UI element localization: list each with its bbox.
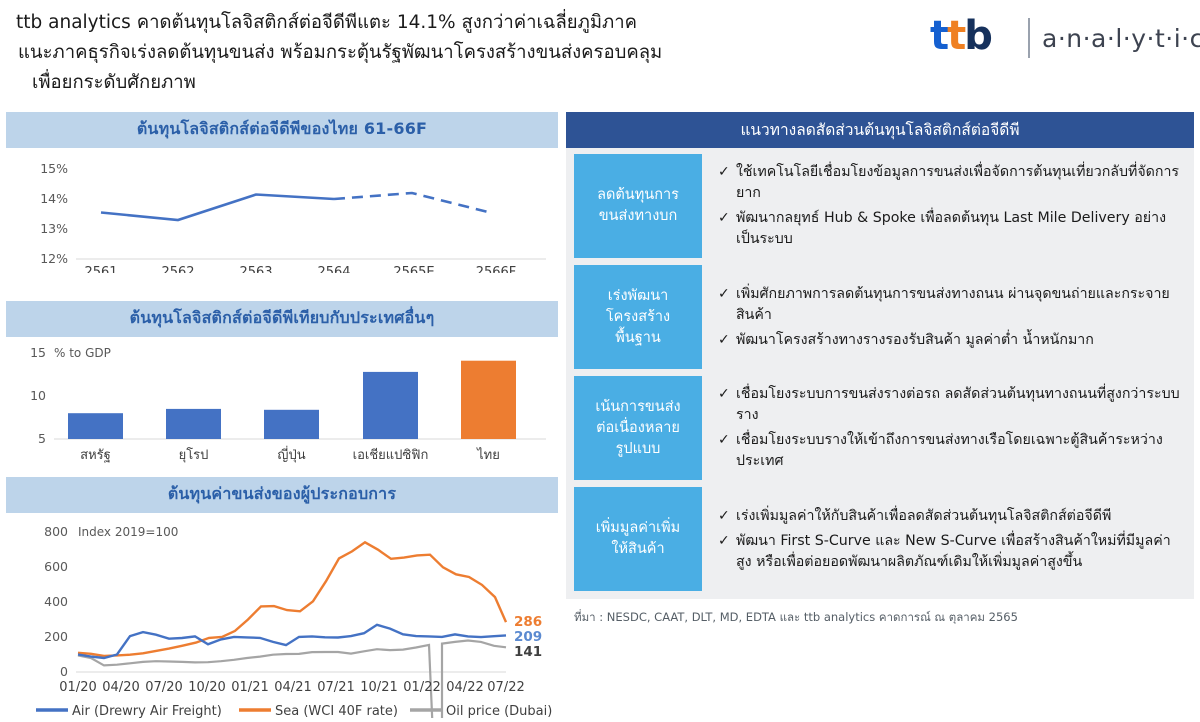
bullet-item: ✓ พัฒนากลยุทธ์ Hub & Spoke เพื่อลดต้นทุน… <box>718 208 1180 250</box>
card-label-line: โครงสร้าง <box>606 309 670 325</box>
bullet-item: ✓ ใช้เทคโนโลยีเชื่อมโยงข้อมูลการขนส่งเพื… <box>718 162 1180 204</box>
chart-2-ytick-10: 10 <box>30 388 46 403</box>
chart-2-ytick-5: 5 <box>38 431 46 446</box>
bullet-text: เชื่อมโยงระบบรางให้เข้าถึงการขนส่งทางเรื… <box>736 430 1180 472</box>
chart-3-xtick-10: 07/22 <box>487 680 524 695</box>
recommendation-card[interactable]: ลดต้นทุนการ ขนส่งทางบก ✓ ใช้เทคโนโลยีเชื… <box>566 154 1194 258</box>
chart-3-svg: Index 2019=100 800 600 400 200 0 286 209… <box>6 513 558 718</box>
chart-2-title: ต้นทุนโลจิสติกส์ต่อจีดีพีเทียบกับประเทศอ… <box>6 301 558 337</box>
chart-3-xtick-3: 10/20 <box>188 680 225 695</box>
chart-3-ylabel: Index 2019=100 <box>78 525 178 539</box>
headline-line-1: ttb analytics คาดต้นทุนโลจิสติกส์ต่อจีดี… <box>16 8 916 38</box>
check-icon: ✓ <box>718 506 736 527</box>
card-label-infrastructure: เร่งพัฒนา โครงสร้าง พื้นฐาน <box>574 265 702 369</box>
logo-letter-t2: t <box>947 13 964 59</box>
card-label-value-added: เพิ่มมูลค่าเพิ่ม ให้สินค้า <box>574 487 702 591</box>
card-label-line: รูปแบบ <box>616 441 661 457</box>
chart-1-ytick-15: 15% <box>40 161 68 176</box>
recommendation-card[interactable]: เพิ่มมูลค่าเพิ่ม ให้สินค้า ✓ เร่งเพิ่มมู… <box>566 487 1194 591</box>
chart-2-bar-3 <box>363 372 418 439</box>
bullet-item: ✓ พัฒนาโครงสร้างทางรางรองรับสินค้า มูลค่… <box>718 330 1180 351</box>
card-body: ✓ เพิ่มศักยภาพการลดต้นทุนการขนส่งทางถนน … <box>702 265 1194 369</box>
chart-3-plot: Index 2019=100 800 600 400 200 0 286 209… <box>6 513 558 722</box>
bullet-text: เร่งเพิ่มมูลค่าให้กับสินค้าเพื่อลดสัดส่ว… <box>736 506 1111 527</box>
chart-1-xtick-2: 2563 <box>239 265 272 273</box>
card-body: ✓ เร่งเพิ่มมูลค่าให้กับสินค้าเพื่อลดสัดส… <box>702 487 1194 591</box>
check-icon: ✓ <box>718 208 736 229</box>
bullet-item: ✓ เชื่อมโยงระบบรางให้เข้าถึงการขนส่งทางเ… <box>718 430 1180 472</box>
page-header: ttb analytics คาดต้นทุนโลจิสติกส์ต่อจีดี… <box>0 0 1200 110</box>
chart-3-legend: Air (Drewry Air Freight) Sea (WCI 40F ra… <box>36 704 552 718</box>
source-note: ที่มา : NESDC, CAAT, DLT, MD, EDTA และ t… <box>566 609 1194 627</box>
card-label-line: ขนส่งทางบก <box>599 208 678 224</box>
card-label-line: พื้นฐาน <box>615 330 661 346</box>
chart-3-xtick-7: 10/21 <box>360 680 397 695</box>
card-label-land-transport-cost: ลดต้นทุนการ ขนส่งทางบก <box>574 154 702 258</box>
bullet-item: ✓ เพิ่มศักยภาพการลดต้นทุนการขนส่งทางถนน … <box>718 284 1180 326</box>
bullet-text: พัฒนาโครงสร้างทางรางรองรับสินค้า มูลค่าต… <box>736 330 1094 351</box>
chart-3-ytick-600: 600 <box>44 559 68 574</box>
recommendation-card[interactable]: เร่งพัฒนา โครงสร้าง พื้นฐาน ✓ เพิ่มศักยภ… <box>566 265 1194 369</box>
chart-3-xtick-8: 01/22 <box>403 680 440 695</box>
chart-1-ytick-13: 13% <box>40 221 68 236</box>
chart-2-bar-0 <box>68 413 123 439</box>
card-label-line: เน้นการขนส่ง <box>595 399 680 415</box>
bullet-item: ✓ เร่งเพิ่มมูลค่าให้กับสินค้าเพื่อลดสัดส… <box>718 506 1180 527</box>
card-label-line: ต่อเนื่องหลาย <box>596 420 680 436</box>
bullet-text: ใช้เทคโนโลยีเชื่อมโยงข้อมูลการขนส่งเพื่อ… <box>736 162 1180 204</box>
check-icon: ✓ <box>718 284 736 305</box>
headline-line-3: เพื่อยกระดับศักยภาพ <box>16 68 916 98</box>
chart-3-ytick-800: 800 <box>44 524 68 539</box>
card-label-line: ให้สินค้า <box>611 541 664 557</box>
card-label-line: เร่งพัฒนา <box>608 288 669 304</box>
legend-label-sea: Sea (WCI 40F rate) <box>275 704 398 718</box>
card-body: ✓ เชื่อมโยงระบบการขนส่งรางต่อรถ ลดสัดส่ว… <box>702 376 1194 480</box>
check-icon: ✓ <box>718 162 736 183</box>
recommendation-card[interactable]: เน้นการขนส่ง ต่อเนื่องหลาย รูปแบบ ✓ เชื่… <box>566 376 1194 480</box>
chart-2-bar-1 <box>166 409 221 439</box>
card-label-line: เพิ่มมูลค่าเพิ่ม <box>596 520 680 536</box>
logo-wordmark: a·n·a·l·y·t·i·c·s <box>1042 24 1200 53</box>
legend-label-oil: Oil price (Dubai) <box>446 704 552 718</box>
chart-2-xtick-1: ยุโรป <box>179 447 209 463</box>
check-icon: ✓ <box>718 531 736 552</box>
bullet-text: พัฒนา First S-Curve และ New S-Curve เพื่… <box>736 531 1180 573</box>
chart-2-ytick-15: 15 <box>30 345 46 360</box>
chart-3-xtick-9: 04/22 <box>446 680 483 695</box>
bullet-item: ✓ พัฒนา First S-Curve และ New S-Curve เพ… <box>718 531 1180 573</box>
page-title: ttb analytics คาดต้นทุนโลจิสติกส์ต่อจีดี… <box>16 8 916 98</box>
card-label-multimodal-transport: เน้นการขนส่ง ต่อเนื่องหลาย รูปแบบ <box>574 376 702 480</box>
chart-1-xtick-5: 2566F <box>476 265 517 273</box>
chart-3-xtick-6: 07/21 <box>317 680 354 695</box>
card-label-line: ลดต้นทุนการ <box>597 187 679 203</box>
chart-3-xtick-1: 04/20 <box>102 680 139 695</box>
legend-label-air: Air (Drewry Air Freight) <box>72 704 222 718</box>
chart-1-ytick-14: 14% <box>40 191 68 206</box>
chart-1-xtick-0: 2561 <box>84 265 117 273</box>
bullet-text: เชื่อมโยงระบบการขนส่งรางต่อรถ ลดสัดส่วนต… <box>736 384 1180 426</box>
chart-3-ytick-200: 200 <box>44 629 68 644</box>
headline-line-2: แนะภาคธุรกิจเร่งลดต้นทุนขนส่ง พร้อมกระตุ… <box>16 38 916 68</box>
chart-2-ylabel: % to GDP <box>54 346 111 360</box>
chart-3-xtick-4: 01/21 <box>231 680 268 695</box>
chart-2-svg: % to GDP 15 10 5 สหรัฐ ยุโรป ญี่ปุ่น เอเ… <box>6 337 558 467</box>
chart-2-xtick-0: สหรัฐ <box>80 448 111 463</box>
chart-1-series-dashed <box>334 193 490 213</box>
logo-divider <box>1028 18 1030 58</box>
check-icon: ✓ <box>718 384 736 405</box>
chart-1-xtick-3: 2564 <box>317 265 350 273</box>
chart-3-endlabel-oil: 141 <box>514 644 542 660</box>
charts-column: ต้นทุนโลจิสติกส์ต่อจีดีพีของไทย 61-66F 1… <box>6 112 558 682</box>
chart-1-ytick-12: 12% <box>40 251 68 266</box>
chart-1-xtick-4: 2565E <box>393 265 434 273</box>
ttb-analytics-logo: ttb a·n·a·l·y·t·i·c·s <box>930 14 1180 66</box>
chart-2-bar-4 <box>461 361 516 439</box>
chart-card-country-comparison: ต้นทุนโลจิสติกส์ต่อจีดีพีเทียบกับประเทศอ… <box>6 301 558 471</box>
chart-1-title: ต้นทุนโลจิสติกส์ต่อจีดีพีของไทย 61-66F <box>6 112 558 148</box>
recommendation-cards: ลดต้นทุนการ ขนส่งทางบก ✓ ใช้เทคโนโลยีเชื… <box>566 148 1194 599</box>
chart-1-svg: 15% 14% 13% 12% 2561 2562 2563 2564 2565… <box>6 148 558 273</box>
chart-3-ytick-0: 0 <box>60 664 68 679</box>
chart-3-endlabel-air: 209 <box>514 629 542 645</box>
chart-2-bar-2 <box>264 410 319 439</box>
ttb-logo-mark: ttb <box>930 14 991 58</box>
chart-3-ytick-400: 400 <box>44 594 68 609</box>
bullet-text: เพิ่มศักยภาพการลดต้นทุนการขนส่งทางถนน ผ่… <box>736 284 1180 326</box>
chart-2-xtick-4: ไทย <box>476 447 500 463</box>
chart-1-series-solid <box>101 195 334 221</box>
bullet-text: พัฒนากลยุทธ์ Hub & Spoke เพื่อลดต้นทุน L… <box>736 208 1180 250</box>
logo-letter-b: b <box>964 13 991 59</box>
chart-card-transport-cost-index: ต้นทุนค่าขนส่งของผู้ประกอบการ Index 2019… <box>6 477 558 722</box>
chart-2-plot: % to GDP 15 10 5 สหรัฐ ยุโรป ญี่ปุ่น เอเ… <box>6 337 558 471</box>
chart-1-xtick-1: 2562 <box>161 265 194 273</box>
check-icon: ✓ <box>718 330 736 351</box>
card-body: ✓ ใช้เทคโนโลยีเชื่อมโยงข้อมูลการขนส่งเพื… <box>702 154 1194 258</box>
chart-3-xtick-5: 04/21 <box>274 680 311 695</box>
chart-3-title: ต้นทุนค่าขนส่งของผู้ประกอบการ <box>6 477 558 513</box>
chart-card-thailand-logistics-gdp: ต้นทุนโลจิสติกส์ต่อจีดีพีของไทย 61-66F 1… <box>6 112 558 295</box>
logo-letter-t1: t <box>930 13 947 59</box>
chart-3-series-sea <box>78 542 506 656</box>
recommendations-title: แนวทางลดสัดส่วนต้นทุนโลจิสติกส์ต่อจีดีพี <box>566 112 1194 148</box>
chart-2-xtick-3: เอเชียแปซิฟิก <box>353 447 429 463</box>
bullet-item: ✓ เชื่อมโยงระบบการขนส่งรางต่อรถ ลดสัดส่ว… <box>718 384 1180 426</box>
chart-3-xtick-2: 07/20 <box>145 680 182 695</box>
chart-2-xtick-2: ญี่ปุ่น <box>277 446 305 463</box>
recommendations-panel: แนวทางลดสัดส่วนต้นทุนโลจิสติกส์ต่อจีดีพี… <box>566 112 1194 682</box>
chart-1-plot: 15% 14% 13% 12% 2561 2562 2563 2564 2565… <box>6 148 558 295</box>
check-icon: ✓ <box>718 430 736 451</box>
chart-3-endlabel-sea: 286 <box>514 614 542 630</box>
chart-3-xtick-0: 01/20 <box>59 680 96 695</box>
